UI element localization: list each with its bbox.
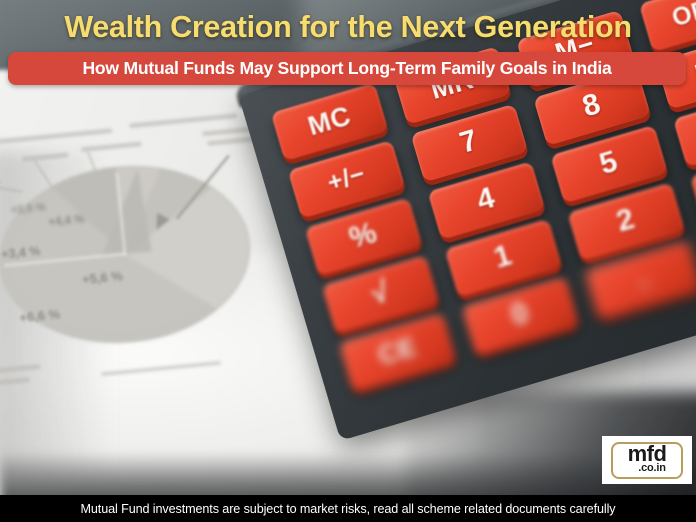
poster-canvas: +5,6 % +6,6 % +3,4 % +4,4 % +2,5 % 1 % M… xyxy=(0,0,696,522)
calculator-key-label: CE xyxy=(375,331,421,372)
disclaimer-bar: Mutual Fund investments are subject to m… xyxy=(0,495,696,522)
doc-text-line xyxy=(0,378,30,385)
calculator-key-label: 0 xyxy=(507,296,533,333)
calculator-key-label: % xyxy=(346,216,382,256)
calculator-key-label: √ xyxy=(367,275,393,312)
doc-text-line xyxy=(0,129,112,145)
doc-text-line xyxy=(0,365,40,374)
doc-text-line xyxy=(81,142,141,152)
calculator-key-label: +/− xyxy=(324,159,368,198)
doc-text-line xyxy=(101,361,221,375)
subtitle-text: How Mutual Funds May Support Long-Term F… xyxy=(82,58,611,79)
calculator-key-label: 4 xyxy=(473,181,499,218)
calculator-key-label: 5 xyxy=(596,144,622,181)
leader-line xyxy=(34,160,54,189)
leader-line xyxy=(0,185,22,193)
calculator-key-label: MC xyxy=(304,100,354,142)
calculator-key-label: 1 xyxy=(490,238,516,275)
doc-text-line xyxy=(22,153,68,161)
calculator-key-label: 8 xyxy=(579,87,605,124)
calculator-key-label: 7 xyxy=(456,123,482,160)
mfd-logo-wordmark: mfd xyxy=(628,444,667,463)
mfd-logo-domain: .co.in xyxy=(638,463,666,474)
calculator-key-label: M+ xyxy=(691,49,696,90)
mfd-logo-frame: mfd .co.in xyxy=(611,442,683,479)
subtitle-banner: How Mutual Funds May Support Long-Term F… xyxy=(8,52,686,85)
calculator-key-label: . xyxy=(634,261,652,296)
calculator-key-label: 2 xyxy=(613,202,639,239)
disclaimer-text: Mutual Fund investments are subject to m… xyxy=(81,502,616,516)
poster-title: Wealth Creation for the Next Generation xyxy=(0,8,696,46)
mfd-logo[interactable]: mfd .co.in xyxy=(602,436,692,484)
